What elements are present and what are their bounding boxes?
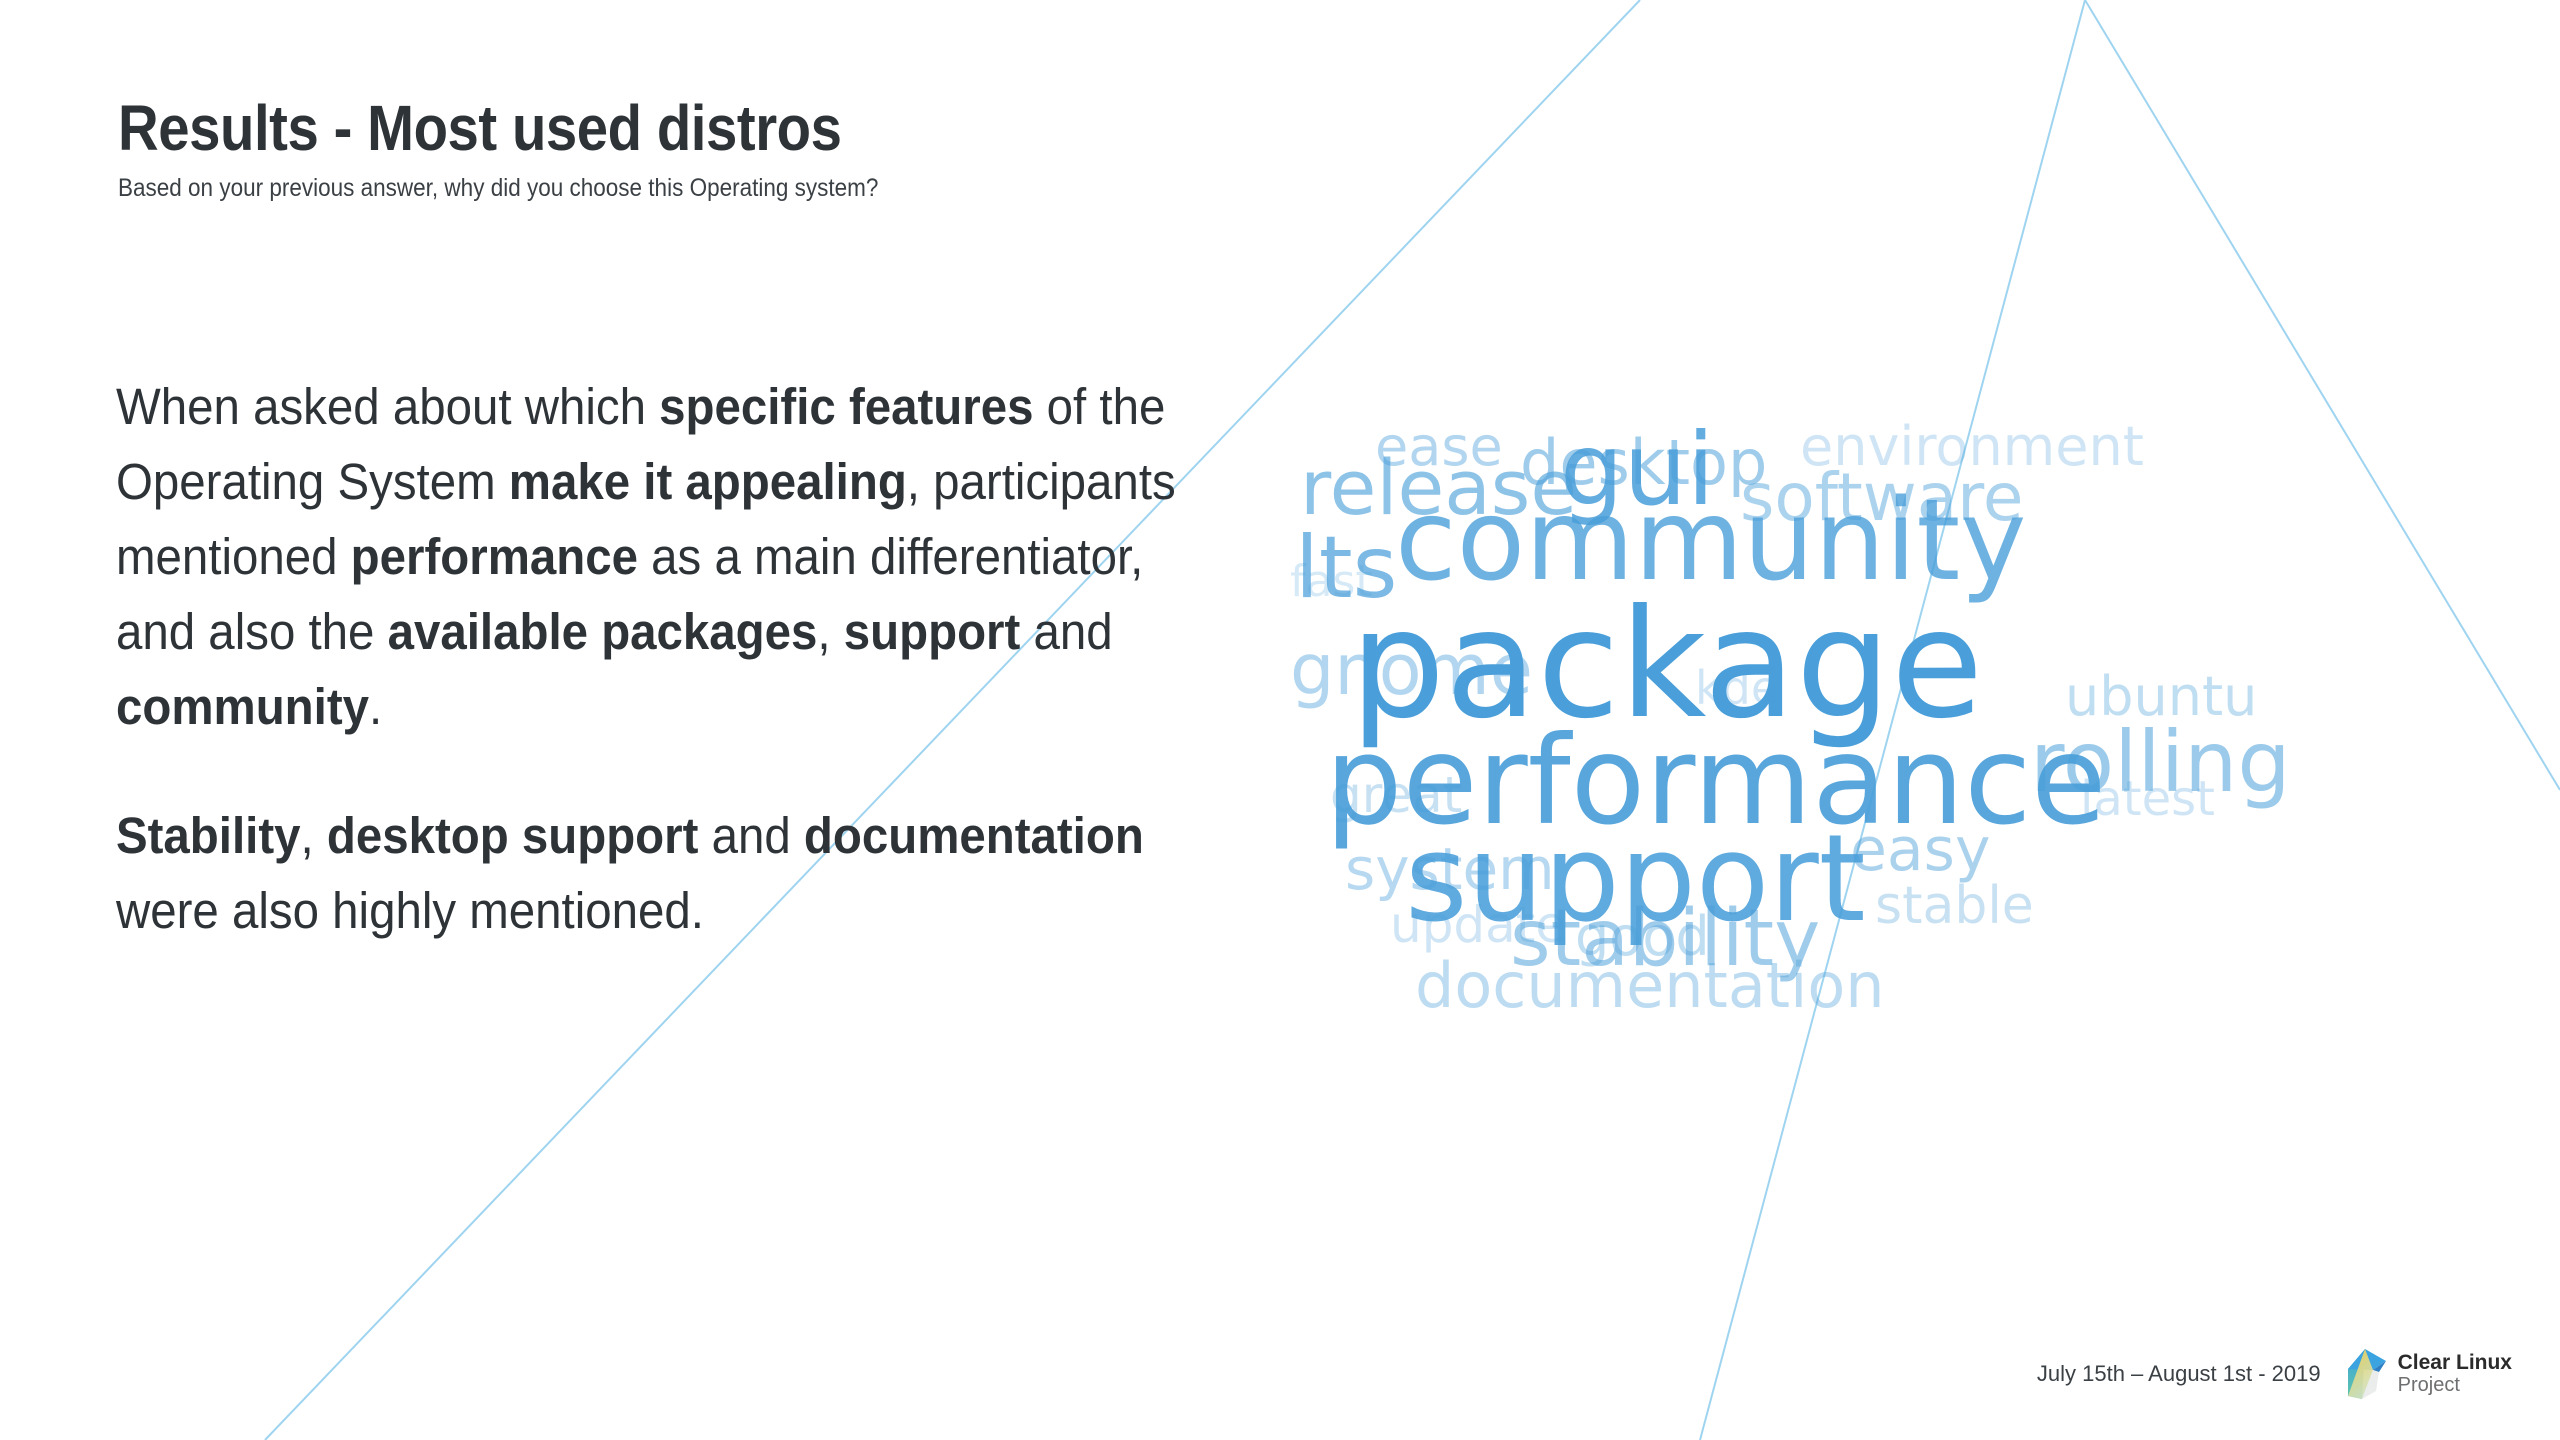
also-mentioned-run-4: documentation xyxy=(804,807,1144,864)
word-cloud-term-great: great xyxy=(1330,770,1462,820)
word-cloud-term-stable: stable xyxy=(1875,880,2034,932)
also-mentioned-run-1: , xyxy=(300,807,326,864)
word-cloud-term-good: good xyxy=(1575,910,1710,964)
findings-run-5: performance xyxy=(351,528,638,585)
also-mentioned-run-5: were also highly mentioned. xyxy=(116,882,704,939)
word-cloud-term-fast: fast xyxy=(1290,560,1373,604)
word-cloud-term-ubuntu: ubuntu xyxy=(2065,670,2257,724)
word-cloud-term-gnome: gnome xyxy=(1290,635,1533,705)
word-cloud-term-system: system xyxy=(1345,840,1555,898)
findings-run-9: support xyxy=(844,603,1021,660)
findings-run-8: , xyxy=(817,603,843,660)
findings-run-1: specific features xyxy=(659,378,1033,435)
word-cloud-term-desktop: desktop xyxy=(1520,432,1767,494)
word-cloud-term-update: update xyxy=(1390,900,1566,950)
clear-linux-logo-text: Clear Linux Project xyxy=(2398,1352,2512,1396)
word-cloud-term-easy: easy xyxy=(1850,820,1990,880)
slide-footer: July 15th – August 1st - 2019 xyxy=(2037,1346,2512,1402)
findings-run-10: and xyxy=(1020,603,1112,660)
logo-subtitle: Project xyxy=(2398,1375,2512,1397)
findings-run-12: . xyxy=(369,678,382,735)
word-cloud-term-latest: latest xyxy=(2080,775,2215,823)
also-mentioned-run-3: and xyxy=(698,807,803,864)
word-cloud: packageperformancesupportcommunityguista… xyxy=(1290,420,2560,1140)
findings-run-7: available packages xyxy=(388,603,818,660)
footer-date: July 15th – August 1st - 2019 xyxy=(2037,1361,2321,1387)
page-title: Results - Most used distros xyxy=(118,96,1262,160)
paragraph-also-mentioned: Stability, desktop support and documenta… xyxy=(116,799,1213,949)
clear-linux-logo: Clear Linux Project xyxy=(2343,1346,2512,1402)
findings-run-0: When asked about which xyxy=(116,378,659,435)
also-mentioned-run-2: desktop support xyxy=(327,807,699,864)
logo-title: Clear Linux xyxy=(2398,1352,2512,1375)
word-cloud-term-ease: ease xyxy=(1375,420,1503,474)
findings-run-11: community xyxy=(116,678,369,735)
word-cloud-term-kde: kde xyxy=(1695,665,1779,711)
also-mentioned-run-0: Stability xyxy=(116,807,300,864)
slide-header: Results - Most used distros Based on you… xyxy=(118,96,1418,203)
paragraph-findings: When asked about which specific features… xyxy=(116,370,1213,745)
word-cloud-term-environment: environment xyxy=(1800,420,2144,474)
body-copy: When asked about which specific features… xyxy=(116,370,1213,949)
findings-run-3: make it appealing xyxy=(509,453,907,510)
page-subtitle: Based on your previous answer, why did y… xyxy=(118,174,1288,203)
slide-canvas: Results - Most used distros Based on you… xyxy=(0,0,2560,1440)
clear-linux-logo-icon xyxy=(2343,1346,2389,1402)
